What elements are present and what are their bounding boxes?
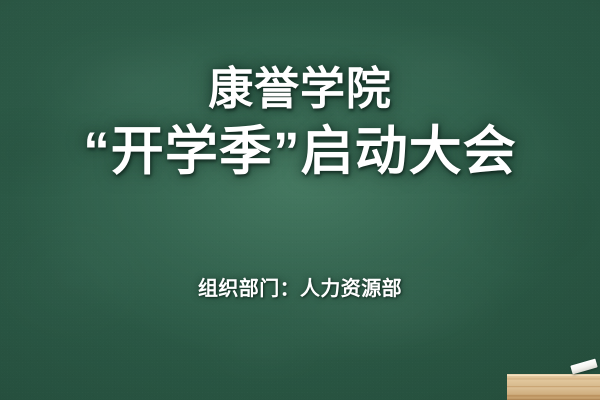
title-line-1: 康誉学院: [0, 62, 600, 115]
presentation-slide: 康誉学院 “开学季”启动大会 组织部门：人力资源部: [0, 0, 600, 400]
title-line-2: “开学季”启动大会: [0, 121, 600, 184]
slide-content: 康誉学院 “开学季”启动大会 组织部门：人力资源部: [0, 0, 600, 400]
slide-subtitle: 组织部门：人力资源部: [0, 272, 600, 301]
wooden-chalk-ledge: [507, 375, 600, 400]
slide-title: 康誉学院 “开学季”启动大会: [0, 62, 600, 184]
